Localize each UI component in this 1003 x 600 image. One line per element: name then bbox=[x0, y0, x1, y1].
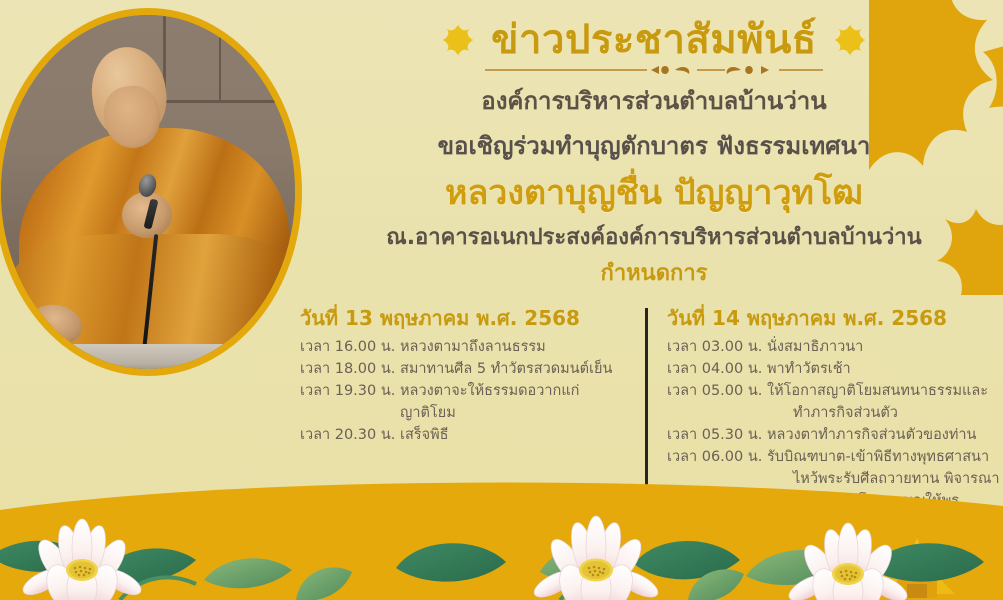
schedule-item: เวลา 05.30 น. หลวงตาทำภารกิจส่วนตัวของท่… bbox=[667, 424, 1000, 446]
schedule-item-line: ให้โอกาสญาติโยมสนทนาธรรมและ bbox=[767, 383, 988, 399]
schedule-item-text: นั่งสมาธิภาวนา bbox=[767, 336, 1000, 358]
lotus-flower-band bbox=[0, 480, 1003, 600]
schedule-item: เวลา 20.30 น. เสร็จพิธี bbox=[300, 424, 627, 446]
schedule-item: เวลา 03.00 น. นั่งสมาธิภาวนา bbox=[667, 336, 1000, 358]
schedule-item-time: เวลา 05.30 น. bbox=[667, 424, 767, 446]
schedule-item-text: เสร็จพิธี bbox=[400, 424, 627, 446]
venue-line: ณ.อาคารอเนกประสงค์องค์การบริหารส่วนตำบลบ… bbox=[318, 224, 990, 253]
schedule-item: เวลา 19.30 น. หลวงตาจะให้ธรรมดอวากแก่ญาต… bbox=[300, 380, 627, 424]
schedule-item-time: เวลา 05.00 น. bbox=[667, 380, 767, 424]
schedule-item: เวลา 05.00 น. ให้โอกาสญาติโยมสนทนาธรรมแล… bbox=[667, 380, 1000, 424]
title-row: ข่าวประชาสัมพันธ์ bbox=[318, 18, 990, 62]
schedule-item-time: เวลา 16.00 น. bbox=[300, 336, 400, 358]
invitation-line: ขอเชิญร่วมทำบุญตักบาตร ฟังธรรมเทศนา bbox=[318, 130, 990, 162]
schedule-item-time: เวลา 20.30 น. bbox=[300, 424, 400, 446]
schedule-item-text: สมาทานศีล 5 ทำวัตรสวดมนต์เย็น bbox=[400, 358, 627, 380]
schedule-item-text: ให้โอกาสญาติโยมสนทนาธรรมและ ทำภารกิจส่วน… bbox=[767, 380, 1000, 424]
schedule-item-time: เวลา 04.00 น. bbox=[667, 358, 767, 380]
date-heading: วันที่ 13 พฤษภาคม พ.ศ. 2568 bbox=[300, 306, 627, 330]
quatrefoil-ornament-icon bbox=[833, 23, 867, 57]
schedule-item: เวลา 04.00 น. พาทำวัตรเช้า bbox=[667, 358, 1000, 380]
poster-canvas: ข่าวประชาสัมพันธ์ องค์การบริหารส่วนตำบลบ… bbox=[0, 0, 1003, 600]
column-divider bbox=[645, 308, 648, 503]
schedule-item-text: หลวงตาจะให้ธรรมดอวากแก่ญาติโยม bbox=[400, 380, 627, 424]
schedule-item-time: เวลา 19.30 น. bbox=[300, 380, 400, 424]
organization-name: องค์การบริหารส่วนตำบลบ้านว่าน bbox=[318, 85, 990, 117]
schedule-item-text: หลวงตามาถึงลานธรรม bbox=[400, 336, 627, 358]
ornamental-divider bbox=[479, 65, 829, 81]
schedule-item-continuation: ทำภารกิจส่วนตัว bbox=[767, 402, 1000, 424]
agenda-label: กำหนดการ bbox=[318, 261, 990, 287]
schedule-item-time: เวลา 18.00 น. bbox=[300, 358, 400, 380]
schedule-item-time: เวลา 03.00 น. bbox=[667, 336, 767, 358]
date-heading: วันที่ 14 พฤษภาคม พ.ศ. 2568 bbox=[667, 306, 1000, 330]
quatrefoil-ornament-icon bbox=[441, 23, 475, 57]
schedule-item: เวลา 18.00 น. สมาทานศีล 5 ทำวัตรสวดมนต์เ… bbox=[300, 358, 627, 380]
schedule-item: เวลา 16.00 น. หลวงตามาถึงลานธรรม bbox=[300, 336, 627, 358]
monk-portrait-photo bbox=[0, 8, 302, 376]
monk-name: หลวงตาบุญชื่น ปัญญาวุทโฒ bbox=[318, 173, 990, 214]
schedule-item-text: หลวงตาทำภารกิจส่วนตัวของท่าน bbox=[767, 424, 1000, 446]
page-title: ข่าวประชาสัมพันธ์ bbox=[491, 18, 817, 62]
schedule-item-line: รับบิณฑบาต-เข้าพิธีทางพุทธศาสนา bbox=[767, 449, 989, 465]
header-block: ข่าวประชาสัมพันธ์ องค์การบริหารส่วนตำบลบ… bbox=[318, 18, 990, 288]
schedule-item-text: พาทำวัตรเช้า bbox=[767, 358, 1000, 380]
